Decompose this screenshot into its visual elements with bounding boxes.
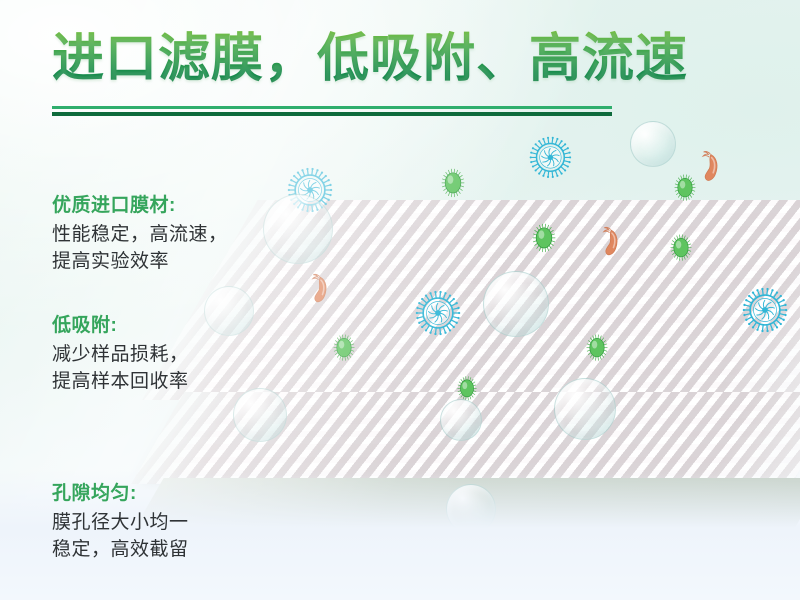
virus-icon — [414, 289, 462, 342]
bubble-shape — [578, 543, 620, 585]
title-divider-bottom — [52, 112, 612, 116]
page-title: 进口滤膜，低吸附、高流速 — [52, 28, 688, 90]
virus-icon — [528, 135, 573, 185]
feature-block-uniform-pores: 孔隙均匀: 膜孔径大小均一 稳定，高效截留 — [52, 481, 189, 563]
bubble-shape — [554, 378, 616, 440]
feature-block-membrane-material: 优质进口膜材: 性能稳定，高流速， 提高实验效率 — [52, 193, 228, 275]
bacteria-icon — [673, 172, 697, 207]
bacteria-icon — [332, 332, 356, 367]
title-divider-top — [52, 106, 612, 109]
feature-body-line: 提高样本回收率 — [52, 368, 189, 395]
bacteria-icon — [585, 332, 609, 367]
bacillus-icon — [599, 224, 626, 267]
bacillus-icon — [308, 271, 335, 314]
poster-canvas: 进口滤膜，低吸附、高流速 优质进口膜材: 性能稳定，高流速， 提高实验效率 低吸… — [0, 0, 800, 600]
bubble-shape — [440, 399, 482, 441]
membrane-right-fade — [701, 392, 800, 484]
bubble-shape — [233, 388, 287, 442]
bacteria-icon — [531, 221, 557, 259]
bubble-shape — [204, 286, 254, 336]
feature-body-line: 提高实验效率 — [52, 248, 228, 275]
bubble-shape — [303, 546, 349, 592]
feature-body-line: 膜孔径大小均一 — [52, 509, 189, 536]
bacteria-icon — [440, 166, 466, 204]
membrane-left-fade — [131, 392, 244, 484]
feature-heading: 孔隙均匀: — [52, 481, 189, 507]
feature-body-line: 稳定，高效截留 — [52, 536, 189, 563]
bubble-shape — [446, 484, 496, 534]
bacillus-icon — [698, 148, 726, 193]
bubble-shape — [470, 568, 512, 600]
virus-icon — [741, 286, 789, 339]
bubble-shape — [630, 121, 676, 167]
feature-body-line: 减少样品损耗， — [52, 341, 189, 368]
feature-body-line: 性能稳定，高流速， — [52, 221, 228, 248]
bubble-shape — [263, 194, 333, 264]
bubble-shape — [483, 271, 549, 337]
bacteria-icon — [669, 232, 693, 267]
feature-heading: 低吸附: — [52, 313, 189, 339]
feature-block-low-adsorption: 低吸附: 减少样品损耗， 提高样本回收率 — [52, 313, 189, 395]
feature-heading: 优质进口膜材: — [52, 193, 228, 219]
